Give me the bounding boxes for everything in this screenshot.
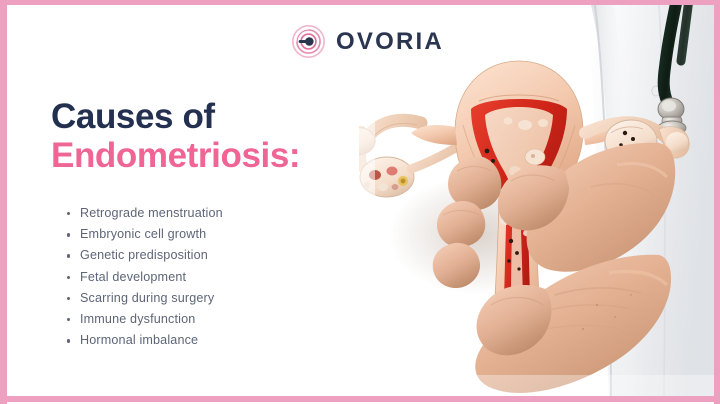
frame-border-right [714, 0, 720, 404]
doctor-holding-uterus-model-photo [359, 5, 714, 396]
poster-canvas: OVORIA Causes of Endometriosis: Retrogra… [0, 0, 720, 404]
list-item: Hormonal imbalance [65, 330, 223, 351]
headline-line-1: Causes of [51, 97, 381, 136]
list-item: Embryonic cell growth [65, 224, 223, 245]
list-item: Scarring during surgery [65, 288, 223, 309]
ovoria-spiral-icon [292, 25, 325, 58]
poster-content: OVORIA Causes of Endometriosis: Retrogra… [7, 5, 714, 396]
brand-logo[interactable]: OVORIA [292, 25, 444, 58]
list-item: Genetic predisposition [65, 245, 223, 266]
frame-border-bottom [0, 396, 720, 402]
headline-line-2: Endometriosis: [51, 136, 381, 175]
brand-wordmark: OVORIA [336, 30, 444, 54]
list-item: Fetal development [65, 267, 223, 288]
page-title: Causes of Endometriosis: [51, 97, 381, 175]
list-item: Immune dysfunction [65, 309, 223, 330]
causes-list: Retrograde menstruation Embryonic cell g… [65, 203, 223, 351]
frame-border-left [0, 0, 7, 404]
list-item: Retrograde menstruation [65, 203, 223, 224]
